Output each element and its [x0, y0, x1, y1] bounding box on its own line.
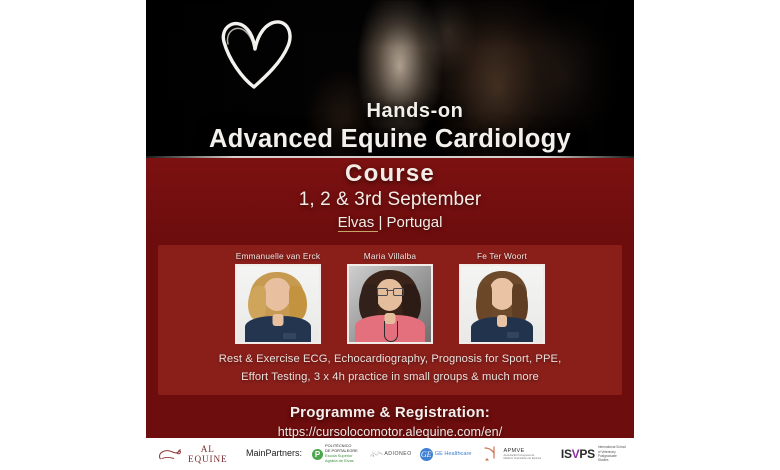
hero-banner: Hands-on Advanced Equine Cardiology	[146, 0, 634, 158]
speaker-photo-fe-ter-woort	[459, 264, 545, 344]
apmve-logo: APMVE Associação Portuguesa de Médicos V…	[483, 438, 541, 470]
speakers-panel: Emmanuelle van Erck Maria Villalba	[158, 245, 622, 395]
ge-healthcare-wordmark: GE Healthcare	[435, 451, 472, 457]
speaker-card: Emmanuelle van Erck	[235, 251, 321, 344]
ge-monogram-icon: GE	[420, 448, 433, 461]
hero-title-group: Hands-on Advanced Equine Cardiology	[146, 100, 634, 154]
speaker-card: Maria Villalba	[347, 251, 433, 344]
adionea-wordmark: ADIONEO	[384, 451, 411, 457]
main-partners-line-1: Main	[246, 448, 266, 459]
al-equine-wordmark: AL EQUINE	[186, 444, 231, 464]
main-partners-label: Main Partners:	[246, 438, 302, 470]
speaker-photo-emmanuelle-van-erck	[235, 264, 321, 344]
location-separator: |	[378, 214, 386, 231]
speaker-photo-maria-villalba	[347, 264, 433, 344]
event-poster: Hands-on Advanced Equine Cardiology Cour…	[146, 0, 634, 470]
adionea-logo: ADIONEO	[368, 438, 412, 470]
apmve-text-group: APMVE Associação Portuguesa de Médicos V…	[503, 448, 541, 461]
politecnico-mark-icon: P	[312, 449, 323, 460]
speaker-name: Emmanuelle van Erck	[235, 251, 321, 261]
location-country: Portugal	[387, 214, 443, 231]
ge-healthcare-logo: GE GE Healthcare	[420, 438, 472, 470]
description-line-1: Rest & Exercise ECG, Echocardiography, P…	[166, 351, 614, 368]
screenshot-canvas: Hands-on Advanced Equine Cardiology Cour…	[0, 0, 780, 470]
hero-divider	[146, 156, 634, 158]
registration-block: Programme & Registration: https://cursol…	[146, 395, 634, 441]
course-description: Rest & Exercise ECG, Echocardiography, P…	[166, 351, 614, 386]
isvps-ps: PS	[579, 447, 594, 461]
isvps-subtitle: International School of Veterinary Postg…	[598, 445, 626, 462]
course-dates: 1, 2 & 3rd September	[146, 188, 634, 212]
hero-eyebrow: Hands-on	[196, 100, 634, 123]
al-equine-logo: AL EQUINE	[154, 438, 230, 470]
location-city: Elvas	[338, 214, 379, 232]
isvps-wordmark: ISVPS	[561, 447, 595, 461]
adionea-mark-icon	[368, 447, 385, 461]
politecnico-de-portalegre-logo: P POLITÉCNICO DE PORTALEGRE Escola Super…	[312, 438, 358, 470]
course-word: Course	[146, 161, 634, 187]
isvps-is: IS	[561, 447, 572, 461]
logo-bar: AL EQUINE Main Partners: P POLITÉCNICO D…	[146, 438, 634, 470]
registration-label: Programme & Registration:	[146, 404, 634, 421]
apmve-mark-icon	[483, 445, 501, 463]
isvps-logo: ISVPS International School of Veterinary…	[561, 438, 626, 470]
main-partners-line-2: Partners:	[266, 448, 303, 459]
title-block: Course 1, 2 & 3rd September Elvas | Port…	[146, 158, 634, 239]
course-location: Elvas | Portugal	[146, 213, 634, 233]
description-line-2: Effort Testing, 3 x 4h practice in small…	[166, 369, 614, 386]
speaker-name: Fe Ter Woort	[459, 251, 545, 261]
speaker-name: Maria Villalba	[347, 251, 433, 261]
politecnico-line-4: Agrária de Elvas	[325, 459, 358, 464]
horse-head-icon	[154, 447, 186, 462]
hero-title: Advanced Equine Cardiology	[146, 125, 634, 154]
politecnico-wordmark: POLITÉCNICO DE PORTALEGRE Escola Superio…	[325, 444, 358, 464]
speakers-row: Emmanuelle van Erck Maria Villalba	[166, 251, 614, 344]
isvps-subtitle-4: Studies	[598, 458, 626, 462]
speaker-card: Fe Ter Woort	[459, 251, 545, 344]
apmve-subtitle-2: Médicos Veterinários de Equinos	[503, 457, 541, 460]
heart-outline-icon	[198, 8, 310, 94]
